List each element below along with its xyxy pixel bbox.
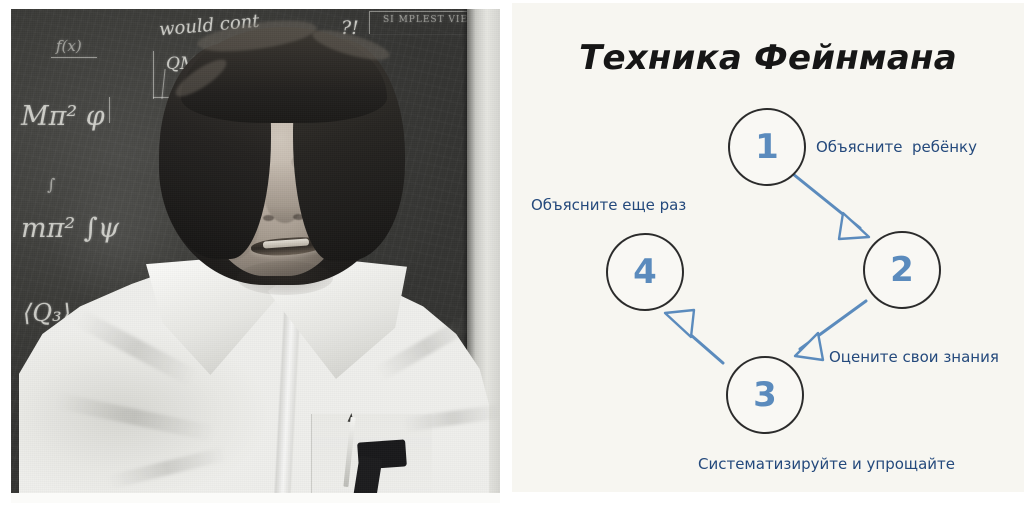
diagram-title: Техника Фейнмана <box>512 38 1024 78</box>
photo-panel: f(x) would cont ?! SI MPLEST VIEW QM Mπ²… <box>0 0 512 512</box>
node-4[interactable]: 4 <box>606 233 684 311</box>
page-root: f(x) would cont ?! SI MPLEST VIEW QM Mπ²… <box>0 0 1024 512</box>
node-3-label: Систематизируйте и упрощайте <box>698 455 955 473</box>
person-figure <box>11 9 500 503</box>
photo-bottom-margin <box>11 493 500 503</box>
node-2[interactable]: 2 <box>863 231 941 309</box>
node-4-number: 4 <box>633 255 657 289</box>
node-1[interactable]: 1 <box>728 108 806 186</box>
chin-shadow <box>237 261 333 295</box>
node-3[interactable]: 3 <box>726 356 804 434</box>
node-3-number: 3 <box>753 378 777 412</box>
feynman-photo: f(x) would cont ?! SI MPLEST VIEW QM Mπ²… <box>11 9 500 503</box>
node-4-label: Объясните еще раз <box>531 196 686 214</box>
node-2-label: Оцените свои знания <box>829 348 999 366</box>
node-2-number: 2 <box>890 253 914 287</box>
node-1-label: Объясните ребёнку <box>816 138 977 156</box>
node-1-number: 1 <box>755 130 779 164</box>
nostril <box>263 215 274 221</box>
